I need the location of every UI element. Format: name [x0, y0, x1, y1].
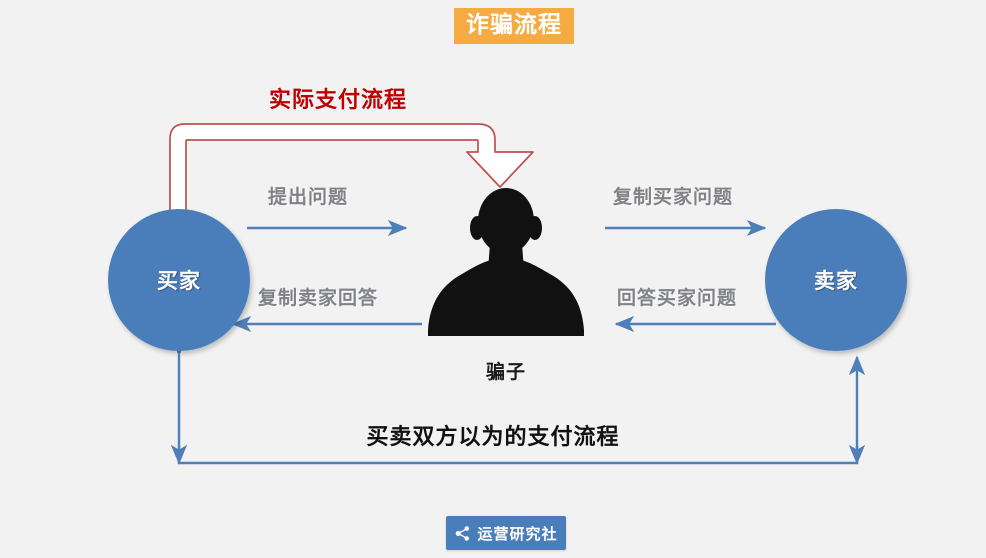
bottom-flow-label: 买卖双方以为的支付流程: [0, 419, 986, 451]
brand-badge[interactable]: 运营研究社: [446, 516, 566, 550]
diagram-canvas: 诈骗流程: [0, 0, 986, 558]
share-icon: [454, 525, 471, 542]
flow-label-answer-question: 回答买家问题: [617, 283, 737, 310]
node-scammer-label: 骗子: [424, 357, 588, 384]
node-buyer[interactable]: 买家: [108, 209, 250, 351]
flow-label-copy-answer: 复制卖家回答: [258, 283, 378, 310]
flow-label-copy-question: 复制买家问题: [613, 182, 733, 209]
node-seller-label: 卖家: [814, 265, 858, 295]
node-seller[interactable]: 卖家: [765, 209, 907, 351]
scammer-person-icon: [424, 186, 588, 338]
brand-name: 运营研究社: [477, 523, 557, 544]
red-flow-label: 实际支付流程: [269, 82, 407, 114]
flow-label-ask: 提出问题: [268, 182, 348, 209]
node-buyer-label: 买家: [157, 265, 201, 295]
